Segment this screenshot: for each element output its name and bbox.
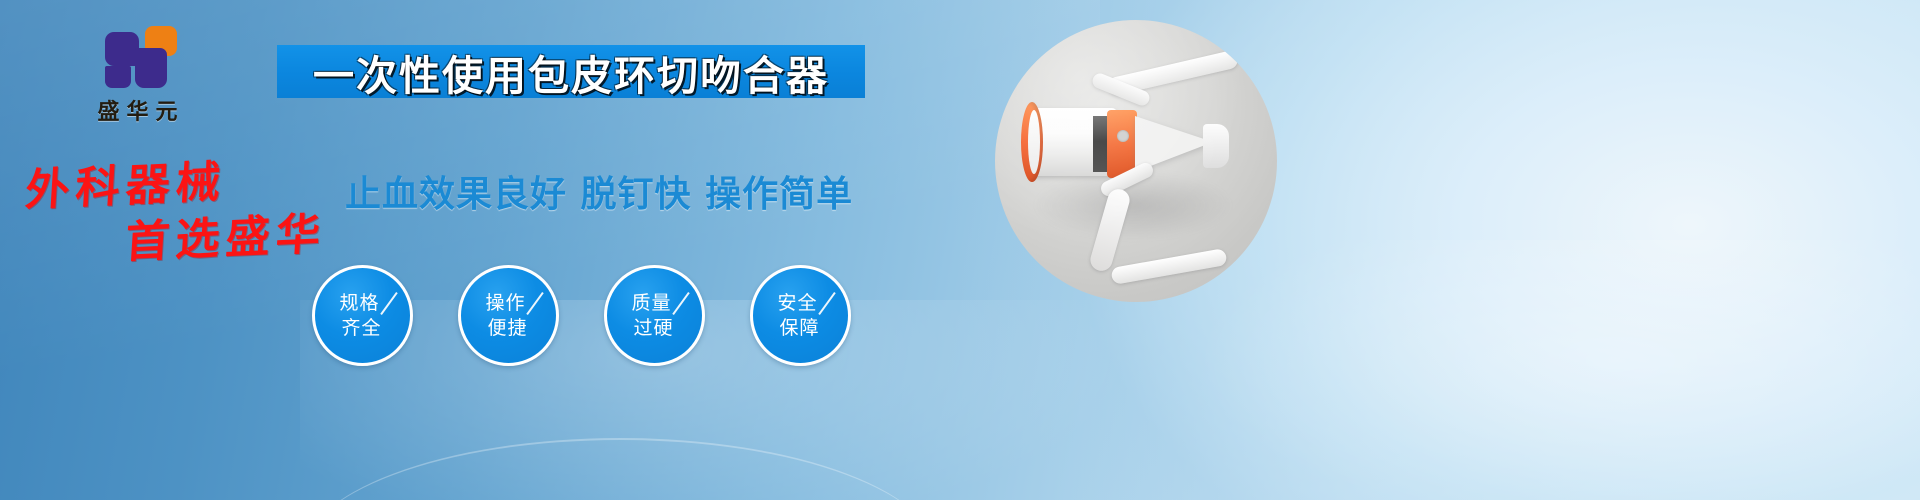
feature-badge-list: 规格 齐全 操作 便捷 质量 过硬 安全 保障 [312, 265, 851, 360]
calligraphy-line-1: 外科器械 [24, 146, 229, 219]
logo-mark-icon [105, 26, 177, 88]
promo-banner: 盛华元 外科器械 首选盛华 一次性使用包皮环切吻合器 止血效果良好 脱钉快 操作… [0, 0, 1920, 500]
slash-icon [672, 292, 689, 315]
feature-badge-line-1: 规格 [339, 291, 379, 316]
feature-badge-line-2: 齐全 [341, 316, 381, 341]
feature-badge-line-1: 安全 [777, 291, 817, 316]
feature-badge-line-1: 操作 [485, 291, 525, 316]
logo-block-purple-bottom [105, 66, 131, 88]
calligraphy-slogan: 外科器械 首选盛华 [18, 150, 348, 265]
logo-block-purple-top [105, 32, 139, 66]
decorative-arc [300, 438, 940, 500]
slash-icon [526, 292, 543, 315]
feature-badge-line-2: 便捷 [487, 316, 527, 341]
feature-badge-line-2: 过硬 [633, 316, 673, 341]
slash-icon [818, 292, 835, 315]
product-photo-gloss [995, 20, 1277, 302]
subtitle: 止血效果良好 脱钉快 操作简单 [345, 165, 965, 217]
feature-badge[interactable]: 质量 过硬 [604, 265, 705, 366]
feature-badge-line-1: 质量 [631, 291, 671, 316]
feature-badge-line-2: 保障 [779, 316, 819, 341]
slash-icon [380, 292, 397, 315]
feature-badge[interactable]: 规格 齐全 [312, 265, 413, 366]
page-title: 一次性使用包皮环切吻合器 [313, 42, 829, 102]
background-sheen-right [1160, 240, 1920, 500]
feature-badge[interactable]: 安全 保障 [750, 265, 851, 366]
brand-logo[interactable]: 盛华元 [66, 26, 216, 122]
feature-badge[interactable]: 操作 便捷 [458, 265, 559, 366]
product-photo[interactable] [995, 20, 1277, 302]
brand-name: 盛华元 [66, 94, 216, 126]
calligraphy-line-2: 首选盛华 [124, 198, 329, 271]
logo-block-purple-right [135, 48, 167, 88]
headline-bar: 一次性使用包皮环切吻合器 [277, 45, 865, 98]
